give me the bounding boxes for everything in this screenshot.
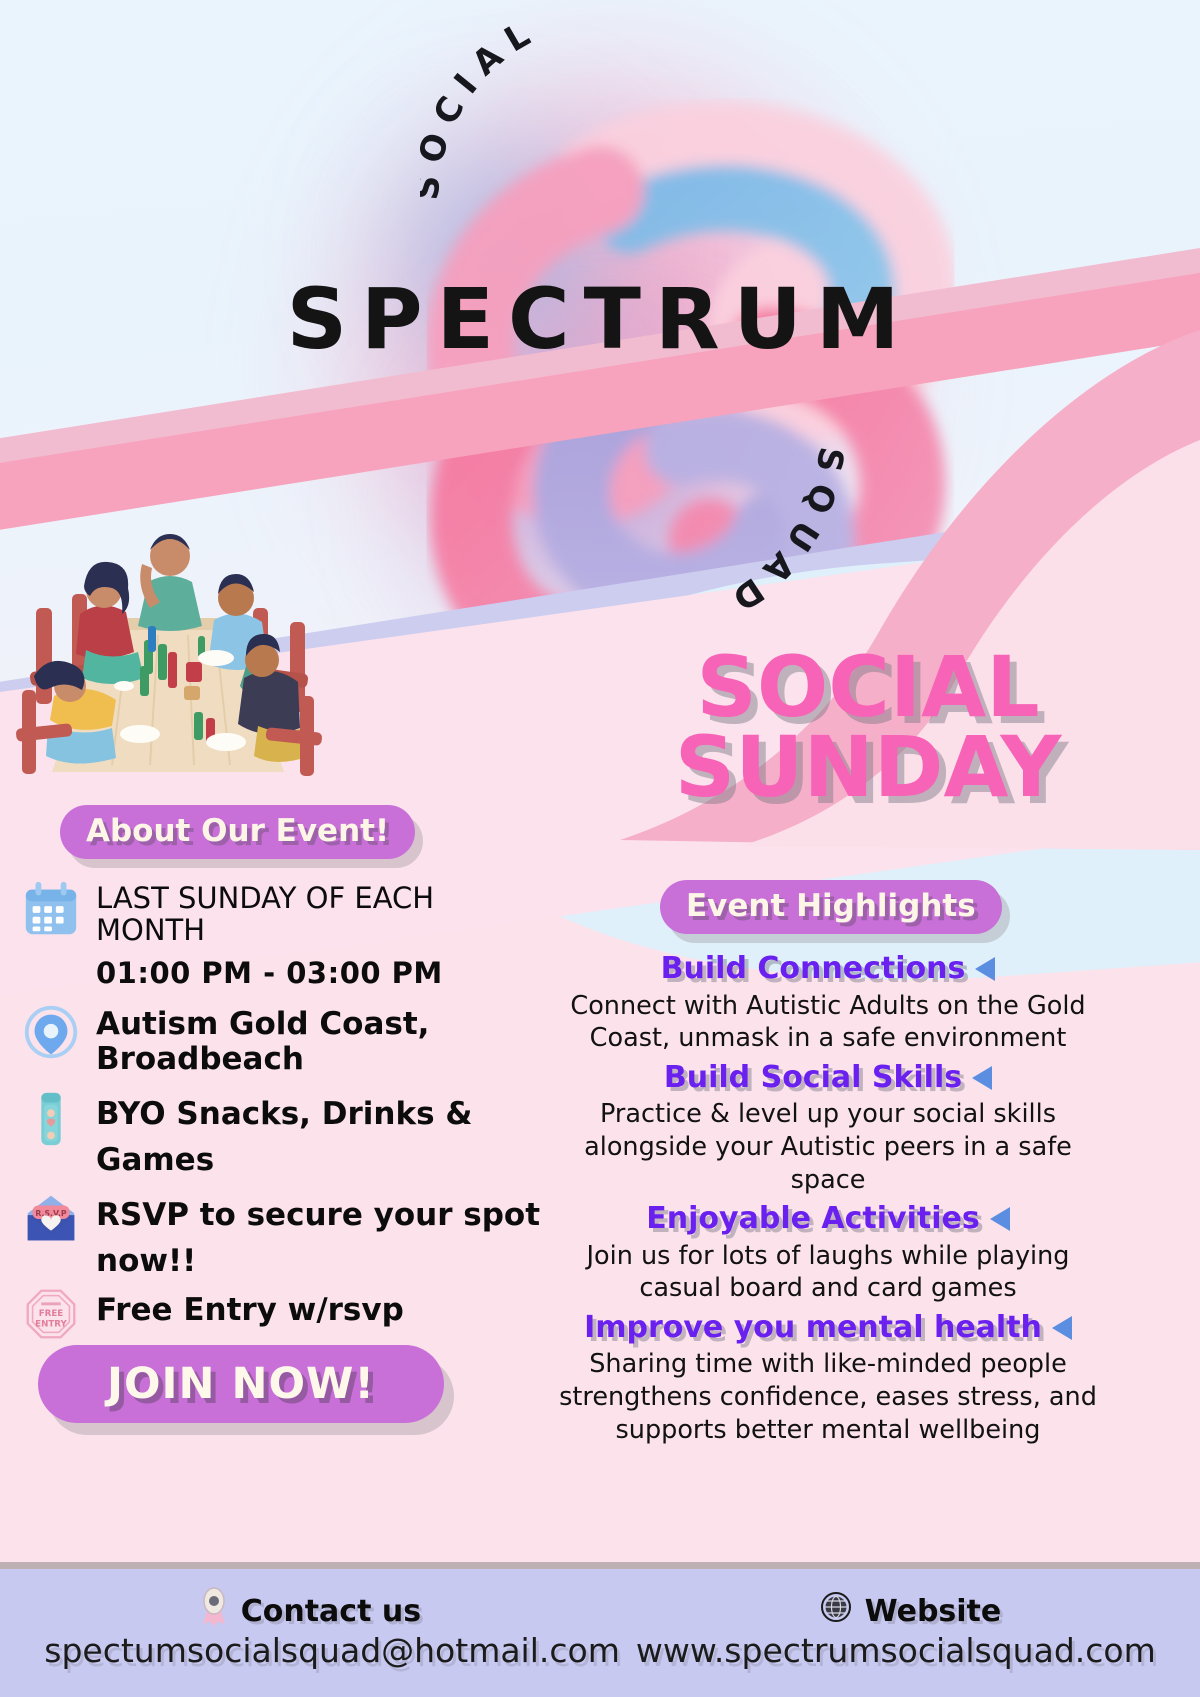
event-highlights-list: Build Connections Connect with Autistic … — [556, 950, 1100, 1450]
about-item-date: LAST SUNDAY OF EACH MONTH 01:00 PM - 03:… — [20, 878, 550, 989]
highlight-body: Join us for lots of laughs while playing… — [556, 1240, 1100, 1305]
footer-website-url[interactable]: www.spectrumsocialsquad.com — [636, 1631, 1156, 1670]
footer-contact-details: spectumsocialsquad@hotmail.com www.spect… — [0, 1631, 1200, 1670]
footer-contact-label-group: Contact us — [199, 1587, 421, 1635]
join-now-label: JOIN NOW! — [107, 1359, 375, 1409]
friends-at-table-illustration — [8, 490, 328, 780]
triangle-left-icon — [975, 957, 995, 981]
triangle-left-icon — [1052, 1316, 1072, 1340]
svg-text:SQUAD: SQUAD — [716, 444, 850, 624]
about-section-pill: About Our Event! — [60, 805, 415, 859]
footer-website-label: Website — [865, 1594, 1002, 1629]
free-entry-stamp-icon: FREE ENTRY — [20, 1283, 82, 1345]
about-item-rsvp: R.S.V.P RSVP to secure your spot now!! — [20, 1188, 550, 1285]
footer-website-label-group: Website — [819, 1590, 1002, 1632]
logo-wordmark: SPECTRUM — [0, 270, 1200, 368]
highlight-heading: Build Connections — [661, 950, 966, 988]
ribbon-badge-icon — [199, 1587, 229, 1635]
highlight-heading-row: Build Social Skills — [556, 1059, 1100, 1097]
about-location-text: Autism Gold Coast, Broadbeach — [96, 1003, 550, 1076]
logo-arc-text-social: SOCIAL — [420, 20, 740, 240]
footer-email[interactable]: spectumsocialsquad@hotmail.com — [44, 1631, 620, 1670]
highlight-body: Sharing time with like-minded people str… — [556, 1348, 1100, 1446]
about-rsvp-text: RSVP to secure your spot now!! — [96, 1188, 550, 1285]
highlight-item: Enjoyable Activities Join us for lots of… — [556, 1200, 1100, 1305]
about-item-byo: BYO Snacks, Drinks & Games — [20, 1087, 550, 1184]
highlight-heading-row: Enjoyable Activities — [556, 1200, 1100, 1238]
about-time-text: 01:00 PM - 03:00 PM — [96, 953, 550, 989]
highlight-heading-row: Improve you mental health — [556, 1309, 1100, 1347]
svg-text:R.S.V.P: R.S.V.P — [35, 1209, 67, 1218]
about-item-free-entry: FREE ENTRY Free Entry w/rsvp — [20, 1283, 550, 1345]
highlight-body: Connect with Autistic Adults on the Gold… — [556, 990, 1100, 1055]
highlight-heading-row: Build Connections — [556, 950, 1100, 988]
about-date-text: LAST SUNDAY OF EACH MONTH — [96, 878, 550, 947]
triangle-left-icon — [972, 1066, 992, 1090]
highlight-item: Build Connections Connect with Autistic … — [556, 950, 1100, 1055]
location-pin-icon — [20, 1003, 82, 1065]
about-item-location: Autism Gold Coast, Broadbeach — [20, 1003, 550, 1076]
highlight-heading: Improve you mental health — [584, 1309, 1042, 1347]
logo-arc-text-squad: SQUAD — [520, 420, 850, 640]
footer-band: Contact us Website — [0, 1562, 1200, 1697]
hero-title-line-2: SUNDAY — [588, 728, 1148, 808]
highlight-item: Improve you mental health Sharing time w… — [556, 1309, 1100, 1446]
calendar-icon — [20, 878, 82, 940]
footer-labels-row: Contact us Website — [0, 1587, 1200, 1635]
about-details-list: LAST SUNDAY OF EACH MONTH 01:00 PM - 03:… — [20, 878, 550, 1349]
footer-contact-label: Contact us — [241, 1594, 421, 1629]
svg-text:SOCIAL: SOCIAL — [420, 20, 546, 202]
globe-icon — [819, 1590, 853, 1632]
join-now-button[interactable]: JOIN NOW! — [38, 1345, 444, 1423]
highlight-heading: Build Social Skills — [664, 1059, 962, 1097]
about-byo-text: BYO Snacks, Drinks & Games — [96, 1087, 550, 1184]
rsvp-envelope-icon: R.S.V.P — [20, 1188, 82, 1250]
highlight-item: Build Social Skills Practice & level up … — [556, 1059, 1100, 1196]
hero-title: SOCIAL SUNDAY — [588, 648, 1148, 808]
highlights-section-pill: Event Highlights — [660, 880, 1002, 934]
svg-text:ENTRY: ENTRY — [35, 1319, 67, 1329]
triangle-left-icon — [990, 1207, 1010, 1231]
poster-canvas: SPECTRUM SOCIAL SQUAD — [0, 0, 1200, 1697]
highlight-heading: Enjoyable Activities — [646, 1200, 979, 1238]
water-bottle-icon — [20, 1087, 82, 1149]
highlight-body: Practice & level up your social skills a… — [556, 1098, 1100, 1196]
about-free-entry-text: Free Entry w/rsvp — [96, 1283, 404, 1328]
svg-text:FREE: FREE — [39, 1309, 64, 1319]
